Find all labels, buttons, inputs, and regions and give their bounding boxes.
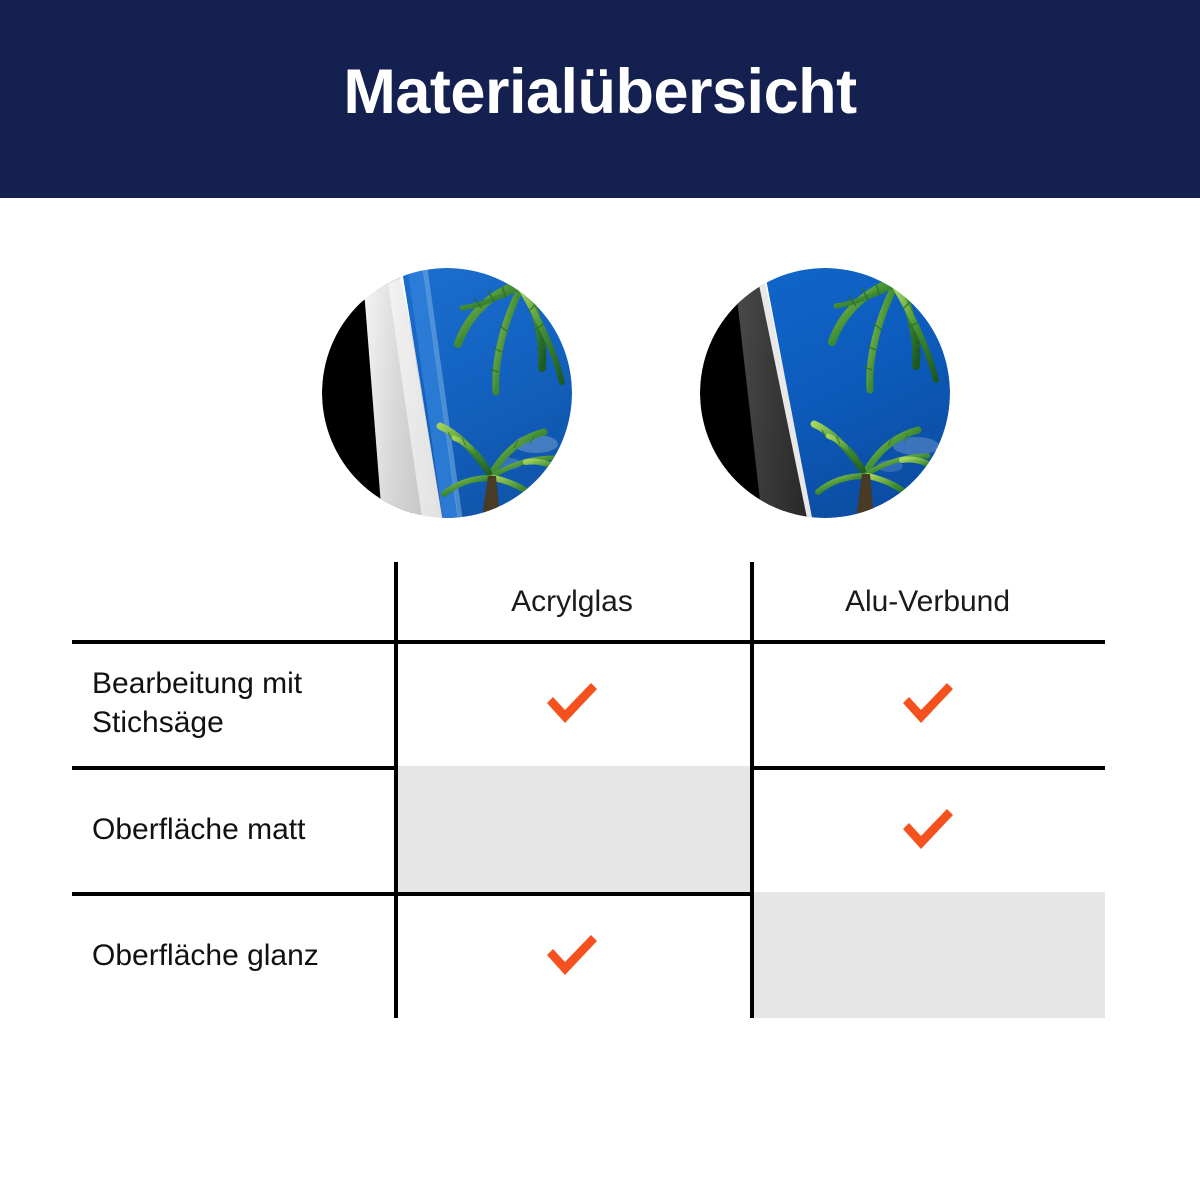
check-icon xyxy=(394,640,750,766)
column-header-acrylglas: Acrylglas xyxy=(394,562,750,640)
cell-matt-alu-verbund xyxy=(750,766,1105,892)
alu-verbund-sample-image xyxy=(700,268,950,518)
table-header-row: Acrylglas Alu-Verbund xyxy=(72,562,1105,640)
cell-bearbeitung-alu-verbund xyxy=(750,640,1105,766)
row-label-oberflaeche-glanz: Oberfläche glanz xyxy=(72,892,394,1018)
thumbnail-alu-verbund[interactable] xyxy=(700,268,950,518)
check-icon xyxy=(750,766,1105,892)
column-header-alu-verbund: Alu-Verbund xyxy=(750,562,1105,640)
check-icon xyxy=(750,640,1105,766)
table-row: Oberfläche glanz xyxy=(72,892,1105,1018)
row-label-oberflaeche-matt: Oberfläche matt xyxy=(72,766,394,892)
header-band: Materialübersicht xyxy=(0,0,1200,198)
cell-glanz-acrylglas xyxy=(394,892,750,1018)
product-thumbnail-row xyxy=(72,268,1105,520)
thumbnail-acrylglas[interactable] xyxy=(322,268,572,518)
table-corner-cell xyxy=(72,562,394,640)
table-row: Oberfläche matt xyxy=(72,766,1105,892)
table-row: Bearbeitung mit Stichsäge xyxy=(72,640,1105,766)
check-icon xyxy=(394,892,750,1018)
material-comparison-table: Acrylglas Alu-Verbund Bearbeitung mit St… xyxy=(72,562,1105,1018)
acrylglas-sample-image xyxy=(322,268,572,518)
row-label-bearbeitung-mit-stichsaege: Bearbeitung mit Stichsäge xyxy=(72,640,394,766)
cell-matt-acrylglas-unavailable xyxy=(394,766,750,892)
page-title: Materialübersicht xyxy=(0,0,1200,198)
cell-bearbeitung-acrylglas xyxy=(394,640,750,766)
cell-glanz-alu-verbund-unavailable xyxy=(750,892,1105,1018)
